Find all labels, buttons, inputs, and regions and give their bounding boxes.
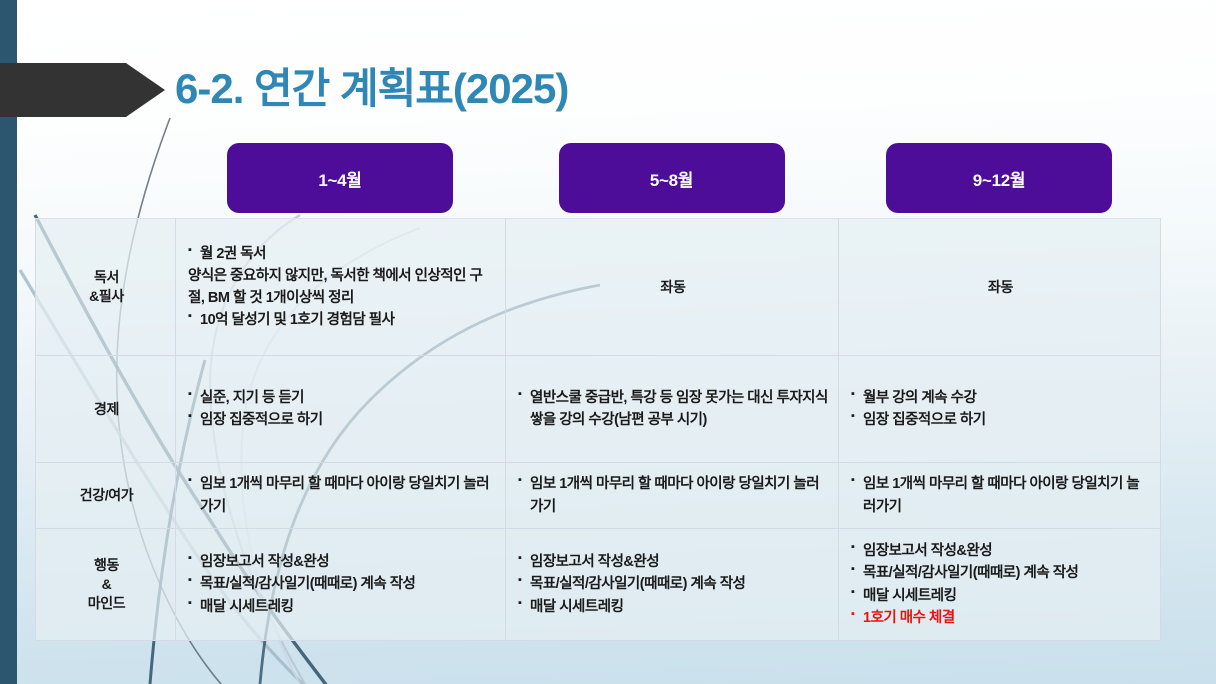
list-item: 매달 시세트레킹 [188,596,495,618]
list-item: 양식은 중요하지 않지만, 독서한 책에서 인상적인 구절, BM 할 것 1개… [188,265,495,309]
header-pill-q3[interactable]: 9~12월 [886,143,1112,213]
list-item: 목표/실적/감사일기(때때로) 계속 작성 [188,573,495,595]
cell-bullet-list: 월 2권 독서양식은 중요하지 않지만, 독서한 책에서 인상적인 구절, BM… [188,243,495,331]
list-item: 월부 강의 계속 수강 [851,387,1150,409]
table-cell-q2: 임장보고서 작성&완성목표/실적/감사일기(때때로) 계속 작성매달 시세트레킹 [506,529,839,641]
cell-bullet-list: 임장보고서 작성&완성목표/실적/감사일기(때때로) 계속 작성매달 시세트레킹 [518,551,828,617]
header-pill-q1[interactable]: 1~4월 [227,143,453,213]
row-category-label: 경제 [36,356,176,463]
pill-slot-q2: 5~8월 [505,143,838,213]
slide-canvas: 6-2. 연간 계획표(2025) 1~4월 5~8월 9~12월 독서&필사월… [0,0,1216,684]
table-cell-q1: 임보 1개씩 마무리 할 때마다 아이랑 당일치기 놀러가기 [176,463,506,529]
table-cell-q1: 월 2권 독서양식은 중요하지 않지만, 독서한 책에서 인상적인 구절, BM… [176,219,506,356]
cell-bullet-list: 임보 1개씩 마무리 할 때마다 아이랑 당일치기 놀러가기 [188,473,495,517]
list-item: 임장 집중적으로 하기 [188,409,495,431]
cell-bullet-list: 월부 강의 계속 수강임장 집중적으로 하기 [851,387,1150,431]
list-item: 목표/실적/감사일기(때때로) 계속 작성 [518,573,828,595]
row-category-label: 독서&필사 [36,219,176,356]
row-category-label: 건강/여가 [36,463,176,529]
title-arrow-shape [0,63,165,117]
annual-plan-table-body: 독서&필사월 2권 독서양식은 중요하지 않지만, 독서한 책에서 인상적인 구… [36,219,1161,641]
list-item: 열반스쿨 중급반, 특강 등 임장 못가는 대신 투자지식 쌓을 강의 수강(남… [518,387,828,431]
list-item: 임장보고서 작성&완성 [518,551,828,573]
table-cell-q3: 임보 1개씩 마무리 할 때마다 아이랑 당일치기 놀러가기 [839,463,1161,529]
table-row: 경제실준, 지기 등 듣기임장 집중적으로 하기열반스쿨 중급반, 특강 등 임… [36,356,1161,463]
table-cell-q2: 좌동 [506,219,839,356]
table-row: 독서&필사월 2권 독서양식은 중요하지 않지만, 독서한 책에서 인상적인 구… [36,219,1161,356]
cell-text: 좌동 [851,277,1150,297]
list-item: 10억 달성기 및 1호기 경험담 필사 [188,309,495,331]
list-item: 임보 1개씩 마무리 할 때마다 아이랑 당일치기 놀러가기 [518,473,828,517]
list-item: 임장보고서 작성&완성 [188,551,495,573]
cell-bullet-list: 임보 1개씩 마무리 할 때마다 아이랑 당일치기 놀러가기 [518,473,828,517]
pill-slot-q3: 9~12월 [838,143,1160,213]
list-item: 목표/실적/감사일기(때때로) 계속 작성 [851,562,1150,584]
table-cell-q3: 임장보고서 작성&완성목표/실적/감사일기(때때로) 계속 작성매달 시세트레킹… [839,529,1161,641]
table-row: 건강/여가임보 1개씩 마무리 할 때마다 아이랑 당일치기 놀러가기임보 1개… [36,463,1161,529]
annual-plan-table: 독서&필사월 2권 독서양식은 중요하지 않지만, 독서한 책에서 인상적인 구… [35,218,1161,641]
cell-text: 좌동 [518,277,828,297]
cell-bullet-list: 임장보고서 작성&완성목표/실적/감사일기(때때로) 계속 작성매달 시세트레킹 [188,551,495,617]
list-item: 임보 1개씩 마무리 할 때마다 아이랑 당일치기 놀러가기 [188,473,495,517]
pill-slot-empty [35,143,175,213]
header-pill-q2[interactable]: 5~8월 [559,143,785,213]
list-item: 임보 1개씩 마무리 할 때마다 아이랑 당일치기 놀러가기 [851,473,1150,517]
list-item: 매달 시세트레킹 [518,596,828,618]
table-cell-q1: 실준, 지기 등 듣기임장 집중적으로 하기 [176,356,506,463]
cell-bullet-list: 임보 1개씩 마무리 할 때마다 아이랑 당일치기 놀러가기 [851,473,1150,517]
table-row: 행동&마인드임장보고서 작성&완성목표/실적/감사일기(때때로) 계속 작성매달… [36,529,1161,641]
pill-slot-q1: 1~4월 [175,143,505,213]
table-cell-q2: 열반스쿨 중급반, 특강 등 임장 못가는 대신 투자지식 쌓을 강의 수강(남… [506,356,839,463]
table-cell-q1: 임장보고서 작성&완성목표/실적/감사일기(때때로) 계속 작성매달 시세트레킹 [176,529,506,641]
list-item: 임장보고서 작성&완성 [851,540,1150,562]
list-item: 임장 집중적으로 하기 [851,409,1150,431]
page-title: 6-2. 연간 계획표(2025) [175,55,568,116]
list-item: 매달 시세트레킹 [851,585,1150,607]
table-cell-q3: 좌동 [839,219,1161,356]
cell-bullet-list: 실준, 지기 등 듣기임장 집중적으로 하기 [188,387,495,431]
row-category-label: 행동&마인드 [36,529,176,641]
table-cell-q2: 임보 1개씩 마무리 할 때마다 아이랑 당일치기 놀러가기 [506,463,839,529]
list-item: 월 2권 독서 [188,243,495,265]
cell-bullet-list: 임장보고서 작성&완성목표/실적/감사일기(때때로) 계속 작성매달 시세트레킹… [851,540,1150,628]
table-cell-q3: 월부 강의 계속 수강임장 집중적으로 하기 [839,356,1161,463]
quarter-header-pills: 1~4월 5~8월 9~12월 [35,143,1160,213]
list-item: 1호기 매수 체결 [851,607,1150,629]
list-item: 실준, 지기 등 듣기 [188,387,495,409]
cell-bullet-list: 열반스쿨 중급반, 특강 등 임장 못가는 대신 투자지식 쌓을 강의 수강(남… [518,387,828,431]
